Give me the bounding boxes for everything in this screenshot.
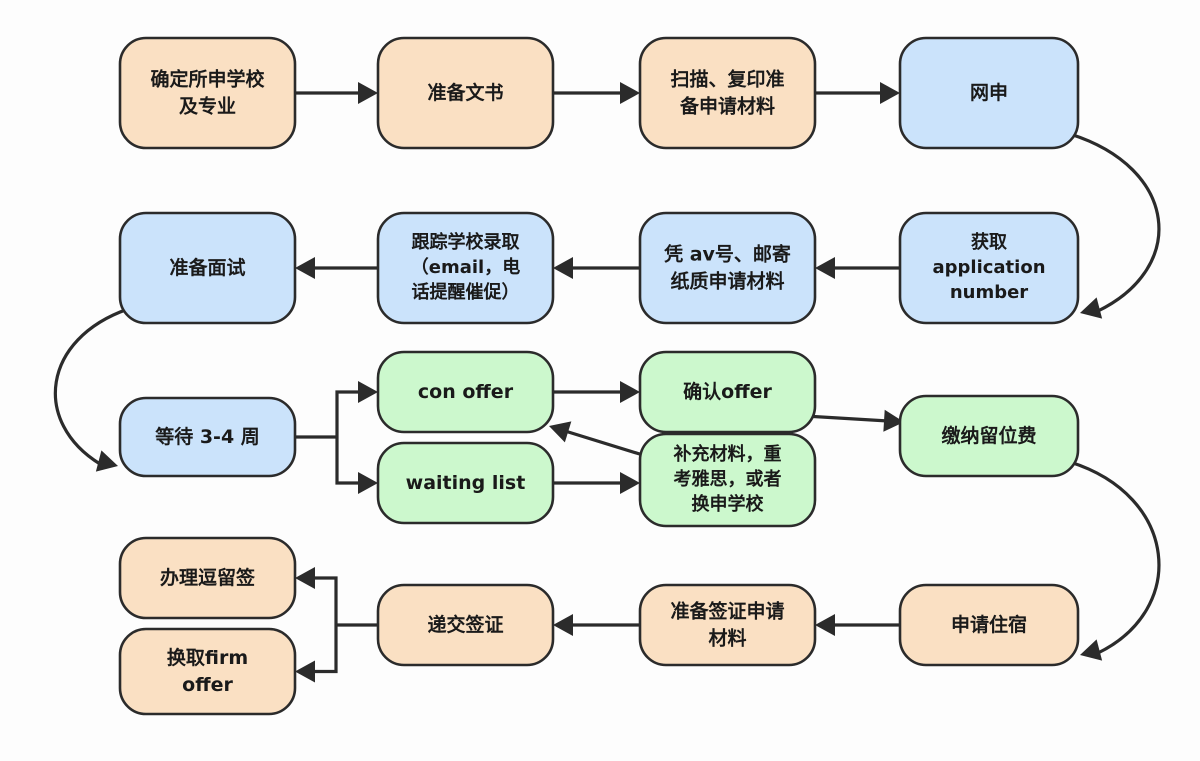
arrow-head (549, 421, 571, 442)
flow-node-label: 网申 (970, 81, 1008, 104)
edge-curve (1070, 462, 1159, 653)
flow-edge (815, 257, 900, 279)
flow-node-label: 缴纳留位费 (941, 424, 1036, 447)
arrow-head (815, 257, 835, 279)
flow-edge (805, 410, 904, 432)
flow-node[interactable]: 等待 3-4 周 (120, 398, 295, 476)
flow-node[interactable]: 准备面试 (120, 213, 295, 323)
arrow-head (295, 661, 315, 683)
flow-node[interactable]: 准备签证申请材料 (640, 585, 815, 665)
arrow-head (815, 614, 835, 636)
flow-node-label: 确认offer (683, 380, 772, 403)
flow-node[interactable]: 申请住宿 (900, 585, 1078, 665)
flow-node[interactable]: 确认offer (640, 352, 815, 432)
flow-edge (549, 421, 646, 456)
flow-node[interactable]: 准备文书 (378, 38, 553, 148)
flow-edge (337, 437, 378, 494)
edge-curve (55, 309, 128, 464)
flow-edge (553, 381, 640, 403)
arrow-head (880, 82, 900, 104)
arrow-head (553, 257, 573, 279)
arrow-head (358, 82, 378, 104)
flow-node-label: 递交签证 (427, 613, 503, 636)
edge-path (805, 416, 888, 421)
flow-edge (553, 82, 640, 104)
flow-edge (295, 567, 378, 625)
flow-node-label: waiting list (406, 472, 526, 494)
flow-node[interactable]: 办理逗留签 (120, 538, 295, 618)
arrow-head (620, 472, 640, 494)
flowchart-svg: 确定所申学校及专业准备文书扫描、复印准备申请材料网申获取applicationn… (0, 0, 1200, 761)
flow-edge (815, 82, 900, 104)
flow-node-label: 办理逗留签 (160, 566, 256, 589)
flow-edge (1070, 134, 1159, 319)
flow-node[interactable]: 递交签证 (378, 585, 553, 665)
flow-edge (1070, 462, 1159, 661)
flow-node-shape (640, 213, 815, 323)
flow-edge (553, 257, 640, 279)
edge-path (564, 431, 646, 456)
arrow-head (1080, 639, 1102, 660)
flow-node[interactable]: 凭 av号、邮寄纸质申请材料 (640, 213, 815, 323)
flow-node-shape (640, 585, 815, 665)
flow-node-label: 准备面试 (169, 256, 245, 279)
flow-node-shape (640, 38, 815, 148)
nodes-layer: 确定所申学校及专业准备文书扫描、复印准备申请材料网申获取applicationn… (120, 38, 1078, 714)
flow-node-label: 等待 3-4 周 (154, 425, 260, 448)
arrow-head (358, 381, 378, 403)
flow-node-label: 跟踪学校录取（email，电话提醒催促） (411, 231, 521, 303)
arrow-head (295, 257, 315, 279)
arrow-head (358, 472, 378, 494)
flow-node[interactable]: 缴纳留位费 (900, 396, 1078, 476)
flow-edge (295, 257, 378, 279)
flow-edge (55, 309, 128, 472)
arrow-head (620, 82, 640, 104)
flow-node-shape (120, 38, 295, 148)
flow-node[interactable]: 扫描、复印准备申请材料 (640, 38, 815, 148)
flow-node[interactable]: waiting list (378, 443, 553, 523)
flow-node[interactable]: 换取firmoffer (120, 629, 295, 714)
flow-edge (553, 472, 640, 494)
flowchart-canvas: 确定所申学校及专业准备文书扫描、复印准备申请材料网申获取applicationn… (0, 0, 1200, 761)
flow-node-shape (120, 629, 295, 714)
flow-node[interactable]: 补充材料，重考雅思，或者换申学校 (640, 434, 815, 526)
arrow-head (620, 381, 640, 403)
flow-edge (295, 625, 336, 683)
arrow-head (1080, 297, 1102, 318)
flow-edge (295, 82, 378, 104)
flow-node[interactable]: 跟踪学校录取（email，电话提醒催促） (378, 213, 553, 323)
flow-node-label: con offer (418, 381, 514, 403)
arrow-head (96, 450, 118, 471)
flow-edge (553, 614, 640, 636)
flow-node[interactable]: con offer (378, 352, 553, 432)
flow-node-label: 准备文书 (427, 81, 503, 104)
flow-edge (815, 614, 900, 636)
arrow-head (295, 567, 315, 589)
arrow-head (553, 614, 573, 636)
flow-node[interactable]: 获取applicationnumber (900, 213, 1078, 323)
flow-edge (295, 381, 378, 437)
flow-node[interactable]: 网申 (900, 38, 1078, 148)
edge-curve (1070, 134, 1159, 311)
flow-node[interactable]: 确定所申学校及专业 (120, 38, 295, 148)
flow-node-label: 申请住宿 (951, 613, 1027, 636)
